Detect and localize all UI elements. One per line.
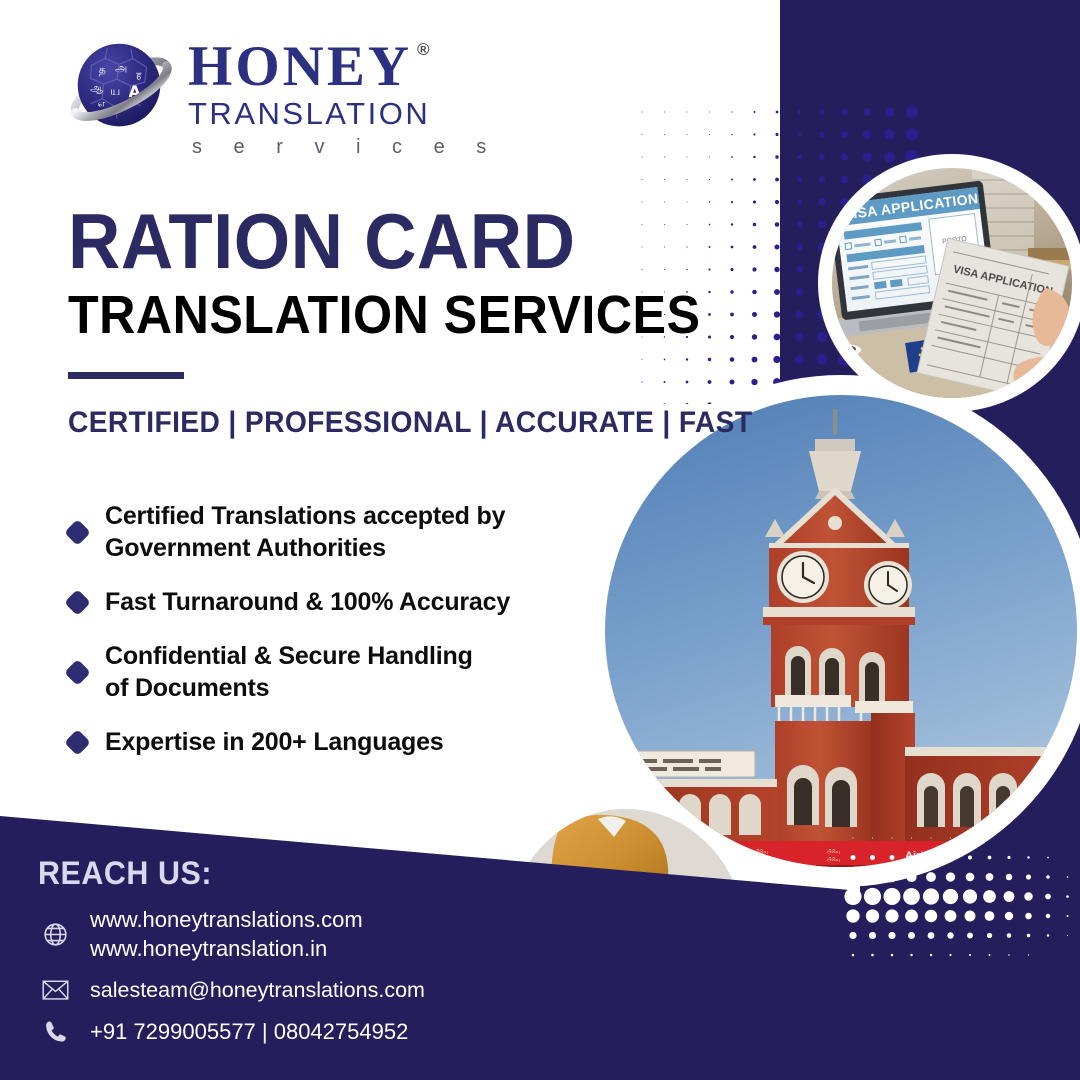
page-subtitle: TRANSLATION SERVICES [68, 288, 745, 342]
brand-name-primary: HONEY [188, 40, 412, 94]
page-title: RATION CARD [68, 205, 745, 278]
list-item-line2: Government Authorities [105, 534, 386, 562]
contact-row-phone[interactable]: +91 7299005577 | 08042754952 [38, 1017, 425, 1046]
svg-text:எ: எ [97, 99, 105, 110]
list-item-label: Certified Translations accepted by Gover… [105, 500, 505, 564]
diamond-bullet-icon [64, 659, 91, 686]
list-item-label: Expertise in 200+ Languages [105, 726, 444, 758]
language-globe-icon: த அ ह ஆ ய A எ ர [62, 28, 180, 146]
visa-application-laptop-photo: VISA APPLICATION [832, 168, 1072, 398]
reach-us-label: REACH US: [38, 855, 212, 892]
list-item: Fast Turnaround & 100% Accuracy [68, 586, 588, 618]
envelope-icon [38, 979, 72, 1001]
brand-name-tertiary: s e r v i c e s [188, 136, 499, 159]
list-item-line1: Confidential & Secure Handling [105, 642, 473, 670]
svg-text:ஆ: ஆ [90, 83, 103, 94]
list-item-line1: Fast Turnaround & 100% Accuracy [105, 588, 510, 616]
contact-row-website[interactable]: www.honeytranslations.com www.honeytrans… [38, 905, 425, 963]
svg-text:அ: அ [115, 61, 127, 74]
contact-list: www.honeytranslations.com www.honeytrans… [38, 905, 425, 1046]
list-item: Expertise in 200+ Languages [68, 726, 588, 758]
list-item-line1: Certified Translations accepted by [105, 502, 505, 530]
brand-wordmark: HONEY ® TRANSLATION s e r v i c e s [188, 28, 499, 159]
contact-row-email[interactable]: salesteam@honeytranslations.com [38, 976, 425, 1004]
headline-block: RATION CARD TRANSLATION SERVICES CERTIFI… [68, 205, 796, 440]
tagline: CERTIFIED | PROFESSIONAL | ACCURATE | FA… [68, 406, 752, 440]
website-links[interactable]: www.honeytranslations.com www.honeytrans… [90, 905, 363, 963]
phone-icon [38, 1019, 72, 1044]
list-item-line2: of Documents [105, 674, 269, 702]
website-secondary[interactable]: www.honeytranslation.in [90, 936, 327, 961]
list-item-label: Fast Turnaround & 100% Accuracy [105, 586, 510, 618]
feature-list: Certified Translations accepted by Gover… [68, 500, 588, 758]
svg-text:ह: ह [136, 71, 142, 82]
svg-text:ய: ய [110, 84, 120, 98]
website-primary[interactable]: www.honeytranslations.com [90, 907, 363, 932]
accent-divider [68, 372, 184, 379]
chennai-central-clock-tower-photo: Airtel Airtel பிரிவு பிரிவு பிரிவு பிரிவ… [605, 395, 1077, 867]
diamond-bullet-icon [64, 589, 91, 616]
list-item: Confidential & Secure Handling of Docume… [68, 640, 588, 704]
diamond-bullet-icon [64, 519, 91, 546]
diamond-bullet-icon [64, 729, 91, 756]
list-item-line1: Expertise in 200+ Languages [105, 728, 444, 756]
list-item-label: Confidential & Secure Handling of Docume… [105, 640, 473, 704]
list-item: Certified Translations accepted by Gover… [68, 500, 588, 564]
svg-text:பிரிவு: பிரிவு [827, 857, 840, 863]
svg-text:த: த [99, 63, 106, 76]
email-address[interactable]: salesteam@honeytranslations.com [90, 976, 425, 1004]
poster-canvas: த அ ह ஆ ய A எ ர HONEY ® TRANSLATION s e … [0, 0, 1080, 1080]
registered-trademark-icon: ® [417, 42, 433, 58]
svg-text:பிரிவு: பிரிவு [827, 849, 840, 855]
halftone-dots-white [844, 829, 1080, 1010]
brand-logo[interactable]: த அ ह ஆ ய A எ ர HONEY ® TRANSLATION s e … [62, 28, 499, 159]
brand-name-secondary: TRANSLATION [188, 96, 499, 132]
phone-numbers[interactable]: +91 7299005577 | 08042754952 [90, 1017, 408, 1046]
globe-icon [38, 921, 72, 948]
